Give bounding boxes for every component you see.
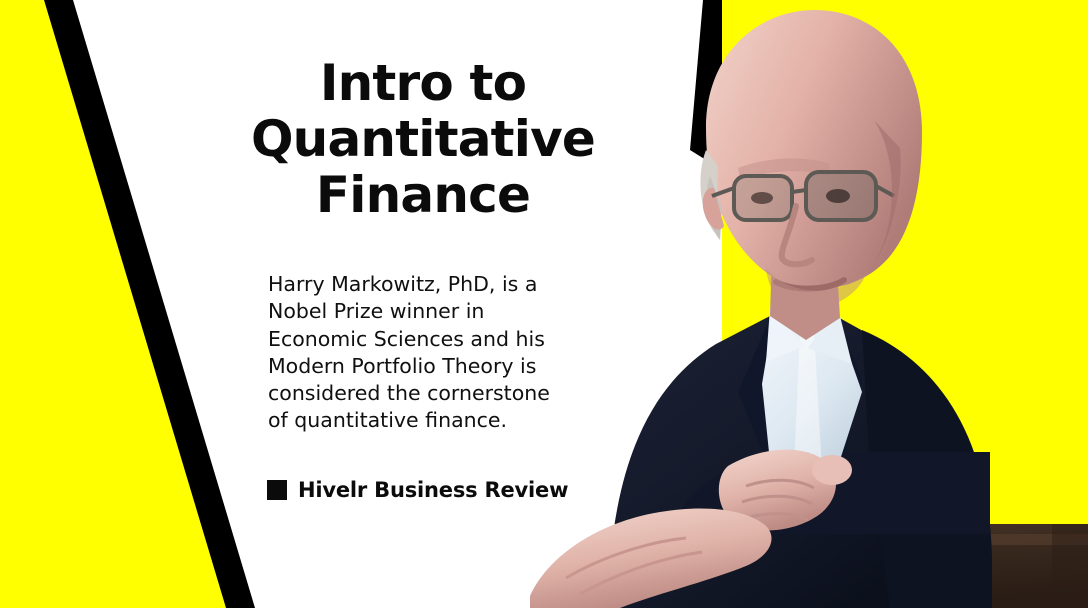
brand-name: Hivelr Business Review: [298, 478, 568, 502]
black-square-mark-icon: [267, 480, 287, 500]
page-title: Intro to Quantitative Finance: [238, 55, 608, 223]
brand-row: Hivelr Business Review: [238, 478, 608, 502]
poster-canvas: Intro to Quantitative Finance Harry Mark…: [0, 0, 1088, 608]
subtitle-paragraph: Harry Markowitz, PhD, is a Nobel Prize w…: [238, 271, 608, 435]
text-block: Intro to Quantitative Finance Harry Mark…: [238, 55, 608, 502]
right-yellow-panel: [722, 0, 1088, 608]
